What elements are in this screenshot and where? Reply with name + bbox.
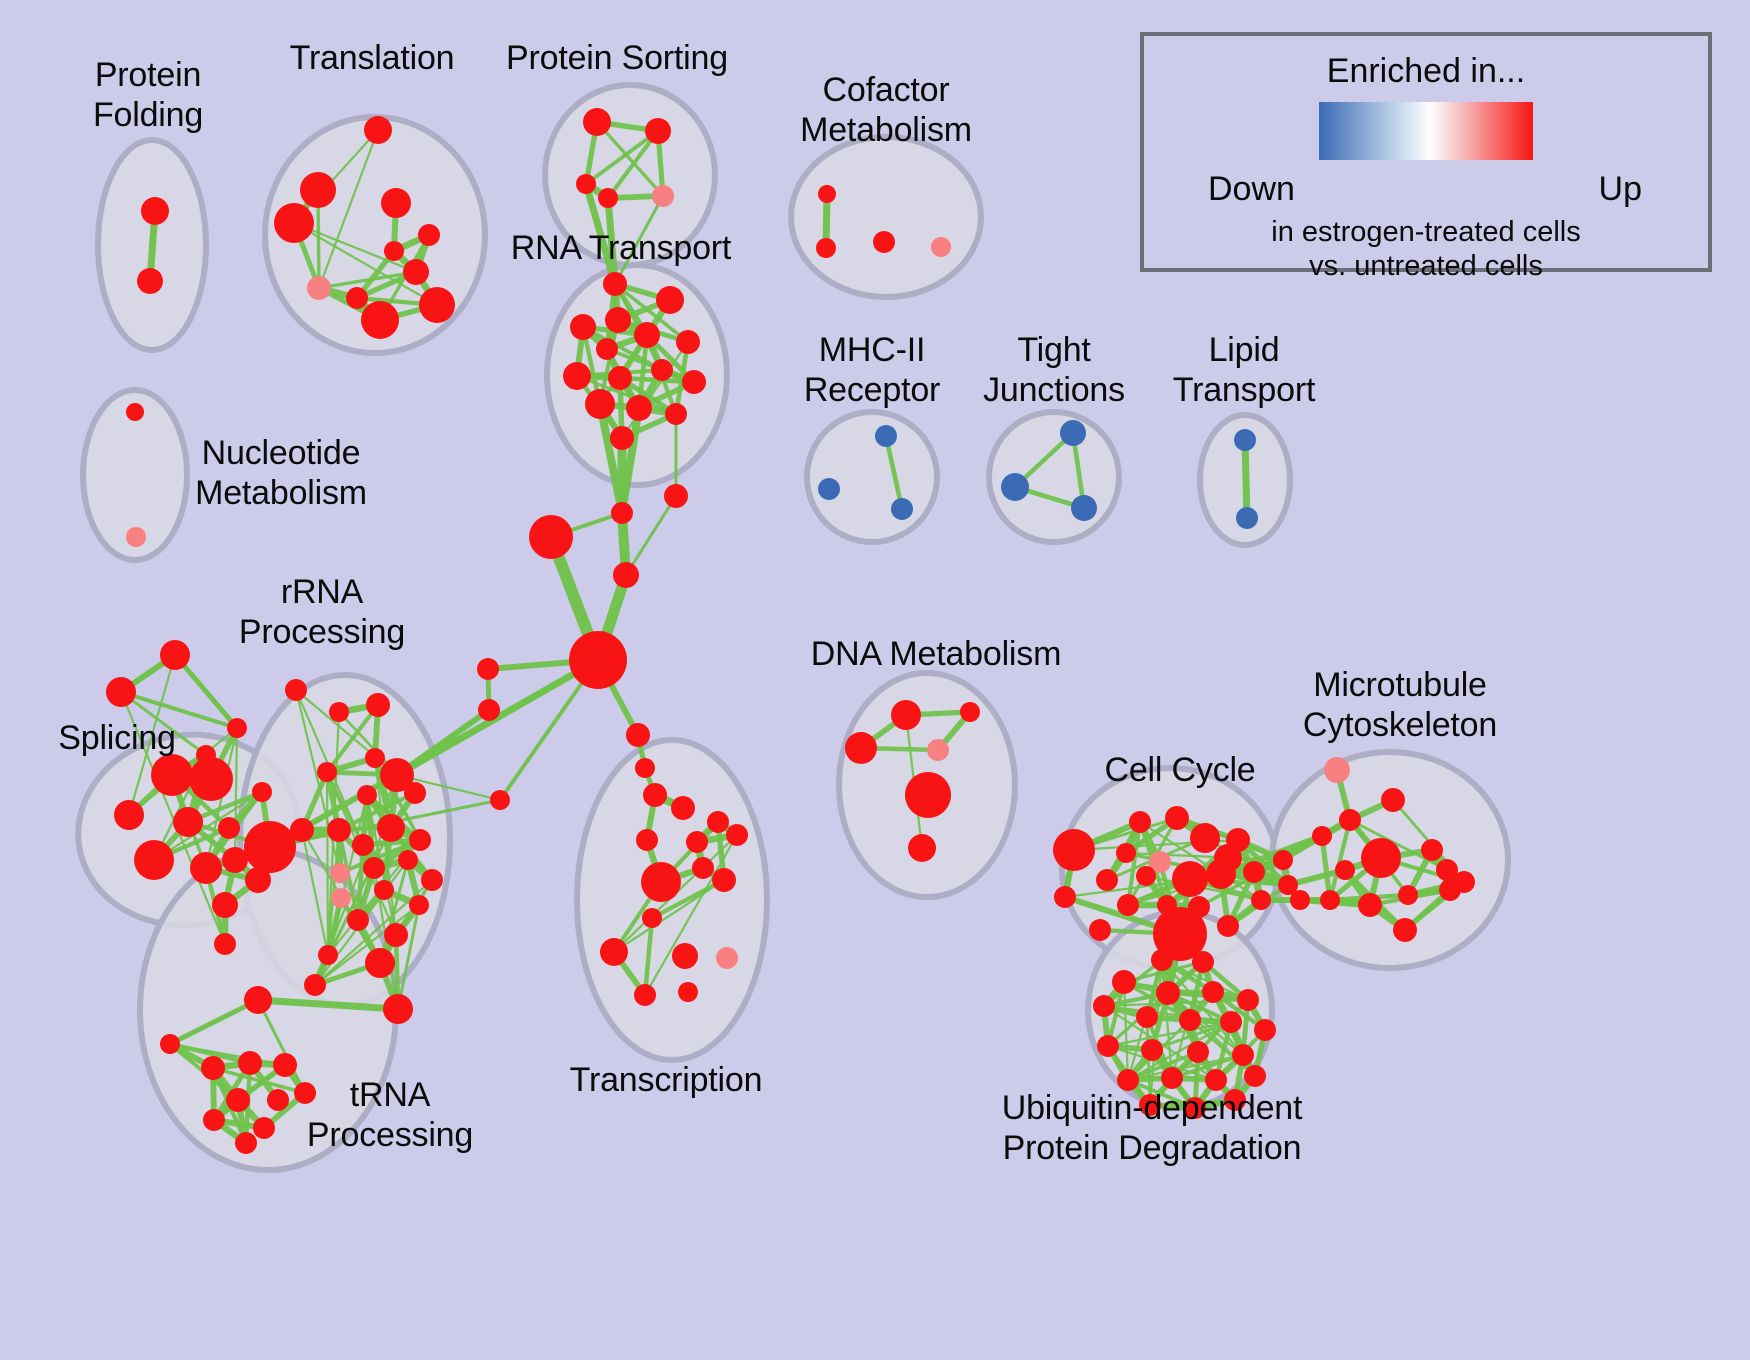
network-node-splicing[interactable] [151, 754, 193, 796]
network-node-rna-transport[interactable] [626, 395, 652, 421]
network-node-trna-processing[interactable] [267, 1089, 289, 1111]
network-node-transcription[interactable] [671, 796, 695, 820]
network-node-ubiquitin-protein-degradation[interactable] [1117, 1069, 1139, 1091]
network-node-ubiquitin-protein-degradation[interactable] [1112, 970, 1136, 994]
network-node-cofactor-metabolism[interactable] [873, 231, 895, 253]
network-node-tight-junctions[interactable] [1001, 473, 1029, 501]
network-node-microtubule-cytoskeleton[interactable] [1324, 757, 1350, 783]
network-node-transcription[interactable] [707, 811, 729, 833]
network-node-microtubule-cytoskeleton[interactable] [1361, 838, 1401, 878]
network-node-splicing[interactable] [214, 933, 236, 955]
network-node-cell-cycle[interactable] [1116, 843, 1136, 863]
network-node-translation[interactable] [346, 287, 368, 309]
network-node-cell-cycle[interactable] [1290, 890, 1310, 910]
network-node-cell-cycle[interactable] [1054, 886, 1076, 908]
network-node-rrna-processing[interactable] [285, 679, 307, 701]
network-node-rrna-processing[interactable] [331, 888, 351, 908]
network-node-dna-metabolism[interactable] [891, 700, 921, 730]
network-node-translation[interactable] [307, 276, 331, 300]
network-node-microtubule-cytoskeleton[interactable] [1381, 788, 1405, 812]
network-node-cofactor-metabolism[interactable] [816, 238, 836, 258]
network-node-splicing[interactable] [252, 782, 272, 802]
network-node-microtubule-cytoskeleton[interactable] [1312, 826, 1332, 846]
legend-box: Enriched in... Down Up in estrogen-treat… [1140, 32, 1712, 272]
legend-low-label: Down [1208, 170, 1295, 209]
network-node-splicing[interactable] [218, 817, 240, 839]
network-node-tight-junctions[interactable] [1060, 420, 1086, 446]
network-node-transcription[interactable] [686, 831, 708, 853]
network-node-bridge[interactable] [643, 783, 667, 807]
network-node-transcription[interactable] [636, 829, 658, 851]
network-node-rna-transport[interactable] [610, 426, 634, 450]
network-edge [1245, 440, 1247, 518]
network-node-rrna-processing[interactable] [318, 945, 338, 965]
network-node-cell-cycle[interactable] [1251, 890, 1271, 910]
network-node-rrna-processing[interactable] [352, 834, 374, 856]
network-node-dna-metabolism[interactable] [960, 702, 980, 722]
network-node-ubiquitin-protein-degradation[interactable] [1139, 1094, 1161, 1116]
network-node-rrna-processing[interactable] [347, 909, 369, 931]
network-node-transcription[interactable] [716, 947, 738, 969]
network-node-rna-transport[interactable] [596, 338, 618, 360]
network-node-protein-folding[interactable] [141, 197, 169, 225]
network-node-microtubule-cytoskeleton[interactable] [1393, 918, 1417, 942]
network-node-ubiquitin-protein-degradation[interactable] [1161, 1067, 1183, 1089]
legend-high-label: Up [1599, 170, 1642, 209]
network-node-rrna-processing[interactable] [365, 748, 385, 768]
network-node-rrna-processing[interactable] [329, 702, 349, 722]
network-node-protein-folding[interactable] [137, 268, 163, 294]
network-node-nucleotide-metabolism[interactable] [126, 403, 144, 421]
network-node-translation[interactable] [361, 301, 399, 339]
network-node-bridge[interactable] [613, 562, 639, 588]
network-node-cell-cycle[interactable] [1243, 861, 1265, 883]
network-node-splicing[interactable] [173, 807, 203, 837]
network-node-ubiquitin-protein-degradation[interactable] [1151, 949, 1173, 971]
network-node-ubiquitin-protein-degradation[interactable] [1093, 995, 1115, 1017]
network-node-transcription[interactable] [634, 984, 656, 1006]
network-node-rrna-processing[interactable] [357, 785, 377, 805]
network-node-rrna-processing[interactable] [398, 850, 418, 870]
network-node-ubiquitin-protein-degradation[interactable] [1220, 1011, 1242, 1033]
network-node-bridge[interactable] [490, 790, 510, 810]
network-node-splicing[interactable] [114, 800, 144, 830]
network-node-translation[interactable] [403, 259, 429, 285]
network-node-rrna-processing[interactable] [380, 758, 414, 792]
network-node-rna-transport[interactable] [585, 389, 615, 419]
network-node-cell-cycle[interactable] [1089, 919, 1111, 941]
network-node-rna-transport[interactable] [665, 403, 687, 425]
network-node-bridge[interactable] [477, 658, 499, 680]
network-node-splicing[interactable] [189, 757, 233, 801]
network-node-rrna-processing[interactable] [365, 948, 395, 978]
network-node-trna-processing[interactable] [160, 1034, 180, 1054]
network-node-ubiquitin-protein-degradation[interactable] [1187, 1041, 1209, 1063]
network-node-bridge[interactable] [611, 502, 633, 524]
network-node-transcription[interactable] [692, 857, 714, 879]
network-node-trna-processing[interactable] [201, 1056, 225, 1080]
network-node-splicing[interactable] [160, 640, 190, 670]
network-node-rrna-processing[interactable] [374, 880, 394, 900]
network-node-transcription[interactable] [726, 824, 748, 846]
network-node-ubiquitin-protein-degradation[interactable] [1179, 1009, 1201, 1031]
network-node-ubiquitin-protein-degradation[interactable] [1156, 981, 1180, 1005]
network-node-rna-transport[interactable] [608, 366, 632, 390]
network-node-transcription[interactable] [672, 943, 698, 969]
network-node-rna-transport[interactable] [563, 362, 591, 390]
network-node-transcription[interactable] [600, 938, 628, 966]
network-node-rna-transport[interactable] [651, 359, 673, 381]
network-node-trna-processing[interactable] [226, 1088, 250, 1112]
network-node-ubiquitin-protein-degradation[interactable] [1205, 1069, 1227, 1091]
network-node-trna-processing[interactable] [294, 1082, 316, 1104]
network-node-splicing[interactable] [212, 892, 238, 918]
network-node-rrna-processing[interactable] [383, 994, 413, 1024]
network-node-nucleotide-metabolism[interactable] [126, 527, 146, 547]
network-edge [626, 496, 676, 575]
network-node-splicing[interactable] [244, 821, 296, 873]
network-node-ubiquitin-protein-degradation[interactable] [1254, 1019, 1276, 1041]
network-node-rrna-processing[interactable] [330, 863, 350, 883]
network-node-rna-transport[interactable] [603, 272, 627, 296]
network-node-trna-processing[interactable] [244, 986, 272, 1014]
network-node-dna-metabolism[interactable] [845, 732, 877, 764]
network-node-rna-transport[interactable] [676, 330, 700, 354]
network-node-splicing[interactable] [106, 677, 136, 707]
network-node-translation[interactable] [300, 172, 336, 208]
network-node-microtubule-cytoskeleton[interactable] [1320, 890, 1340, 910]
network-node-protein-sorting[interactable] [645, 118, 671, 144]
network-node-ubiquitin-protein-degradation[interactable] [1202, 981, 1224, 1003]
network-node-translation[interactable] [419, 287, 455, 323]
network-node-cell-cycle[interactable] [1217, 915, 1239, 937]
legend-title: Enriched in... [1144, 52, 1708, 91]
network-node-rna-transport[interactable] [682, 370, 706, 394]
network-node-cofactor-metabolism[interactable] [931, 237, 951, 257]
network-node-protein-sorting[interactable] [576, 174, 596, 194]
network-node-dna-metabolism[interactable] [927, 739, 949, 761]
network-node-mhc-ii-receptor[interactable] [818, 478, 840, 500]
network-node-rrna-processing[interactable] [327, 818, 351, 842]
network-node-bridge[interactable] [635, 758, 655, 778]
cluster-hull-protein-sorting [545, 85, 715, 265]
network-node-bridge[interactable] [529, 515, 573, 559]
network-node-dna-metabolism[interactable] [905, 772, 951, 818]
network-node-cell-cycle[interactable] [1165, 806, 1189, 830]
network-node-bridge[interactable] [478, 699, 500, 721]
network-node-cell-cycle[interactable] [1190, 823, 1220, 853]
network-node-trna-processing[interactable] [235, 1132, 257, 1154]
network-node-trna-processing[interactable] [253, 1117, 275, 1139]
network-node-trna-processing[interactable] [273, 1053, 297, 1077]
network-node-cell-cycle[interactable] [1172, 861, 1208, 897]
color-scale-bar [1319, 102, 1533, 160]
network-node-transcription[interactable] [642, 908, 662, 928]
network-node-microtubule-cytoskeleton[interactable] [1421, 839, 1443, 861]
network-node-bridge[interactable] [569, 631, 627, 689]
network-node-trna-processing[interactable] [203, 1109, 225, 1131]
legend-subtitle-line1: in estrogen-treated cells [1144, 216, 1708, 249]
network-node-rrna-processing[interactable] [421, 869, 443, 891]
network-node-translation[interactable] [274, 203, 314, 243]
enrichment-map-figure: Protein FoldingTranslationProtein Sortin… [0, 0, 1750, 1360]
network-node-rna-transport[interactable] [570, 314, 596, 340]
legend-subtitle-line2: vs. untreated cells [1144, 250, 1708, 283]
network-node-protein-sorting[interactable] [583, 108, 611, 136]
network-node-cell-cycle[interactable] [1273, 850, 1293, 870]
network-node-splicing[interactable] [222, 847, 248, 873]
network-node-protein-sorting[interactable] [652, 185, 674, 207]
network-node-cell-cycle[interactable] [1053, 829, 1095, 871]
network-node-bridge[interactable] [626, 723, 650, 747]
network-node-rna-transport[interactable] [634, 322, 660, 348]
network-node-cell-cycle[interactable] [1096, 869, 1118, 891]
network-node-microtubule-cytoskeleton[interactable] [1335, 860, 1355, 880]
network-node-mhc-ii-receptor[interactable] [875, 425, 897, 447]
network-node-rrna-processing[interactable] [366, 693, 390, 717]
network-node-tight-junctions[interactable] [1071, 495, 1097, 521]
network-node-microtubule-cytoskeleton[interactable] [1398, 885, 1418, 905]
network-node-ubiquitin-protein-degradation[interactable] [1141, 1039, 1163, 1061]
network-node-ubiquitin-protein-degradation[interactable] [1097, 1035, 1119, 1057]
network-node-ubiquitin-protein-degradation[interactable] [1232, 1044, 1254, 1066]
network-node-rrna-processing[interactable] [377, 814, 405, 842]
network-node-rrna-processing[interactable] [409, 829, 431, 851]
network-node-cell-cycle[interactable] [1206, 859, 1236, 889]
network-node-cell-cycle[interactable] [1117, 894, 1139, 916]
network-node-translation[interactable] [418, 224, 440, 246]
network-edge [327, 772, 328, 955]
cluster-hull-cofactor-metabolism [791, 137, 981, 297]
network-node-lipid-transport[interactable] [1236, 507, 1258, 529]
network-node-trna-processing[interactable] [238, 1051, 262, 1075]
network-node-translation[interactable] [384, 241, 404, 261]
network-node-rna-transport[interactable] [605, 307, 631, 333]
network-node-ubiquitin-protein-degradation[interactable] [1224, 1089, 1246, 1111]
network-node-lipid-transport[interactable] [1234, 429, 1256, 451]
network-node-rrna-processing[interactable] [409, 895, 429, 915]
cluster-hull-mhc-ii-receptor [807, 412, 937, 542]
network-node-microtubule-cytoskeleton[interactable] [1339, 809, 1361, 831]
network-node-ubiquitin-protein-degradation[interactable] [1184, 1097, 1206, 1119]
network-node-dna-metabolism[interactable] [908, 834, 936, 862]
network-node-splicing[interactable] [134, 840, 174, 880]
network-node-rrna-processing[interactable] [363, 857, 385, 879]
network-node-transcription[interactable] [678, 982, 698, 1002]
network-node-rrna-processing[interactable] [304, 974, 326, 996]
network-node-bridge[interactable] [664, 484, 688, 508]
network-node-ubiquitin-protein-degradation[interactable] [1244, 1065, 1266, 1087]
network-node-cell-cycle[interactable] [1136, 866, 1156, 886]
network-node-protein-sorting[interactable] [598, 188, 618, 208]
network-node-cell-cycle[interactable] [1129, 811, 1151, 833]
network-node-transcription[interactable] [641, 862, 681, 902]
network-node-splicing[interactable] [227, 718, 247, 738]
network-node-rna-transport[interactable] [656, 286, 684, 314]
network-node-microtubule-cytoskeleton[interactable] [1358, 893, 1382, 917]
network-node-ubiquitin-protein-degradation[interactable] [1237, 989, 1259, 1011]
network-node-microtubule-cytoskeleton[interactable] [1453, 871, 1475, 893]
network-node-cofactor-metabolism[interactable] [818, 185, 836, 203]
network-node-translation[interactable] [381, 188, 411, 218]
network-node-rrna-processing[interactable] [317, 762, 337, 782]
network-node-rrna-processing[interactable] [290, 818, 314, 842]
network-node-transcription[interactable] [712, 868, 736, 892]
network-node-splicing[interactable] [190, 852, 222, 884]
network-node-ubiquitin-protein-degradation[interactable] [1192, 951, 1214, 973]
network-node-ubiquitin-protein-degradation[interactable] [1136, 1006, 1158, 1028]
network-node-rrna-processing[interactable] [384, 923, 408, 947]
cluster-hull-transcription [577, 740, 767, 1060]
network-node-mhc-ii-receptor[interactable] [891, 498, 913, 520]
network-node-translation[interactable] [364, 116, 392, 144]
